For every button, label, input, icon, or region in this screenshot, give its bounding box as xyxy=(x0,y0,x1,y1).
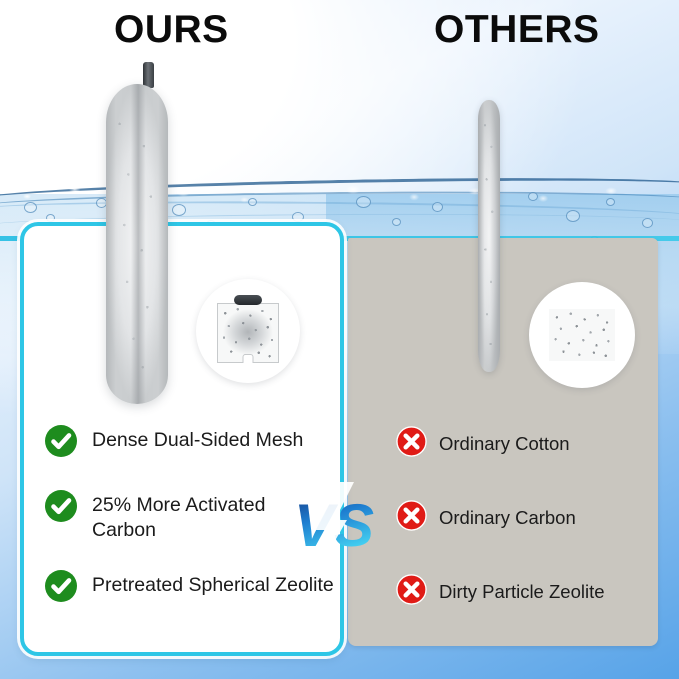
list-item: Ordinary Cotton xyxy=(396,426,656,462)
water-foam xyxy=(0,176,679,210)
heading-ours: OURS xyxy=(114,8,229,52)
check-circle-icon xyxy=(44,424,78,463)
mesh-texture xyxy=(108,86,166,402)
list-item: Dense Dual-Sided Mesh xyxy=(44,424,334,463)
heading-others: OTHERS xyxy=(434,8,600,52)
wave-line xyxy=(0,189,679,219)
list-item: Ordinary Carbon xyxy=(396,500,656,536)
comparison-infographic: OURS OTHERS VS xyxy=(0,0,679,679)
list-item-label: Dense Dual-Sided Mesh xyxy=(92,424,303,453)
list-item-label: 25% More Activated Carbon xyxy=(92,489,334,543)
cross-circle-icon xyxy=(396,500,427,536)
cross-circle-icon xyxy=(396,426,427,462)
product-image-others xyxy=(478,100,500,372)
cotton-texture xyxy=(479,101,499,371)
feature-list-others: Ordinary Cotton Ordinary Carbon Dirty Pa… xyxy=(396,426,656,648)
check-circle-icon xyxy=(44,489,78,528)
closeup-inset-others xyxy=(529,282,635,388)
cross-circle-icon xyxy=(396,574,427,610)
list-item-label: Ordinary Cotton xyxy=(439,426,570,456)
check-circle-icon xyxy=(44,569,78,608)
product-image-ours xyxy=(106,84,168,404)
closeup-inset-ours xyxy=(196,279,300,383)
filter-pad-ours xyxy=(217,303,279,363)
list-item: Pretreated Spherical Zeolite xyxy=(44,569,334,608)
list-item-label: Dirty Particle Zeolite xyxy=(439,574,605,604)
feature-list-ours: Dense Dual-Sided Mesh 25% More Activated… xyxy=(44,424,334,634)
filter-clip-icon xyxy=(143,62,154,88)
filter-clip-icon xyxy=(234,295,262,305)
filter-pad-others xyxy=(549,309,615,361)
activated-carbon-texture xyxy=(223,309,273,358)
pad-notch xyxy=(243,354,254,363)
wave-line xyxy=(0,173,679,212)
list-item-label: Pretreated Spherical Zeolite xyxy=(92,569,334,598)
list-item-label: Ordinary Carbon xyxy=(439,500,576,530)
list-item: Dirty Particle Zeolite xyxy=(396,574,656,610)
list-item: 25% More Activated Carbon xyxy=(44,489,334,543)
